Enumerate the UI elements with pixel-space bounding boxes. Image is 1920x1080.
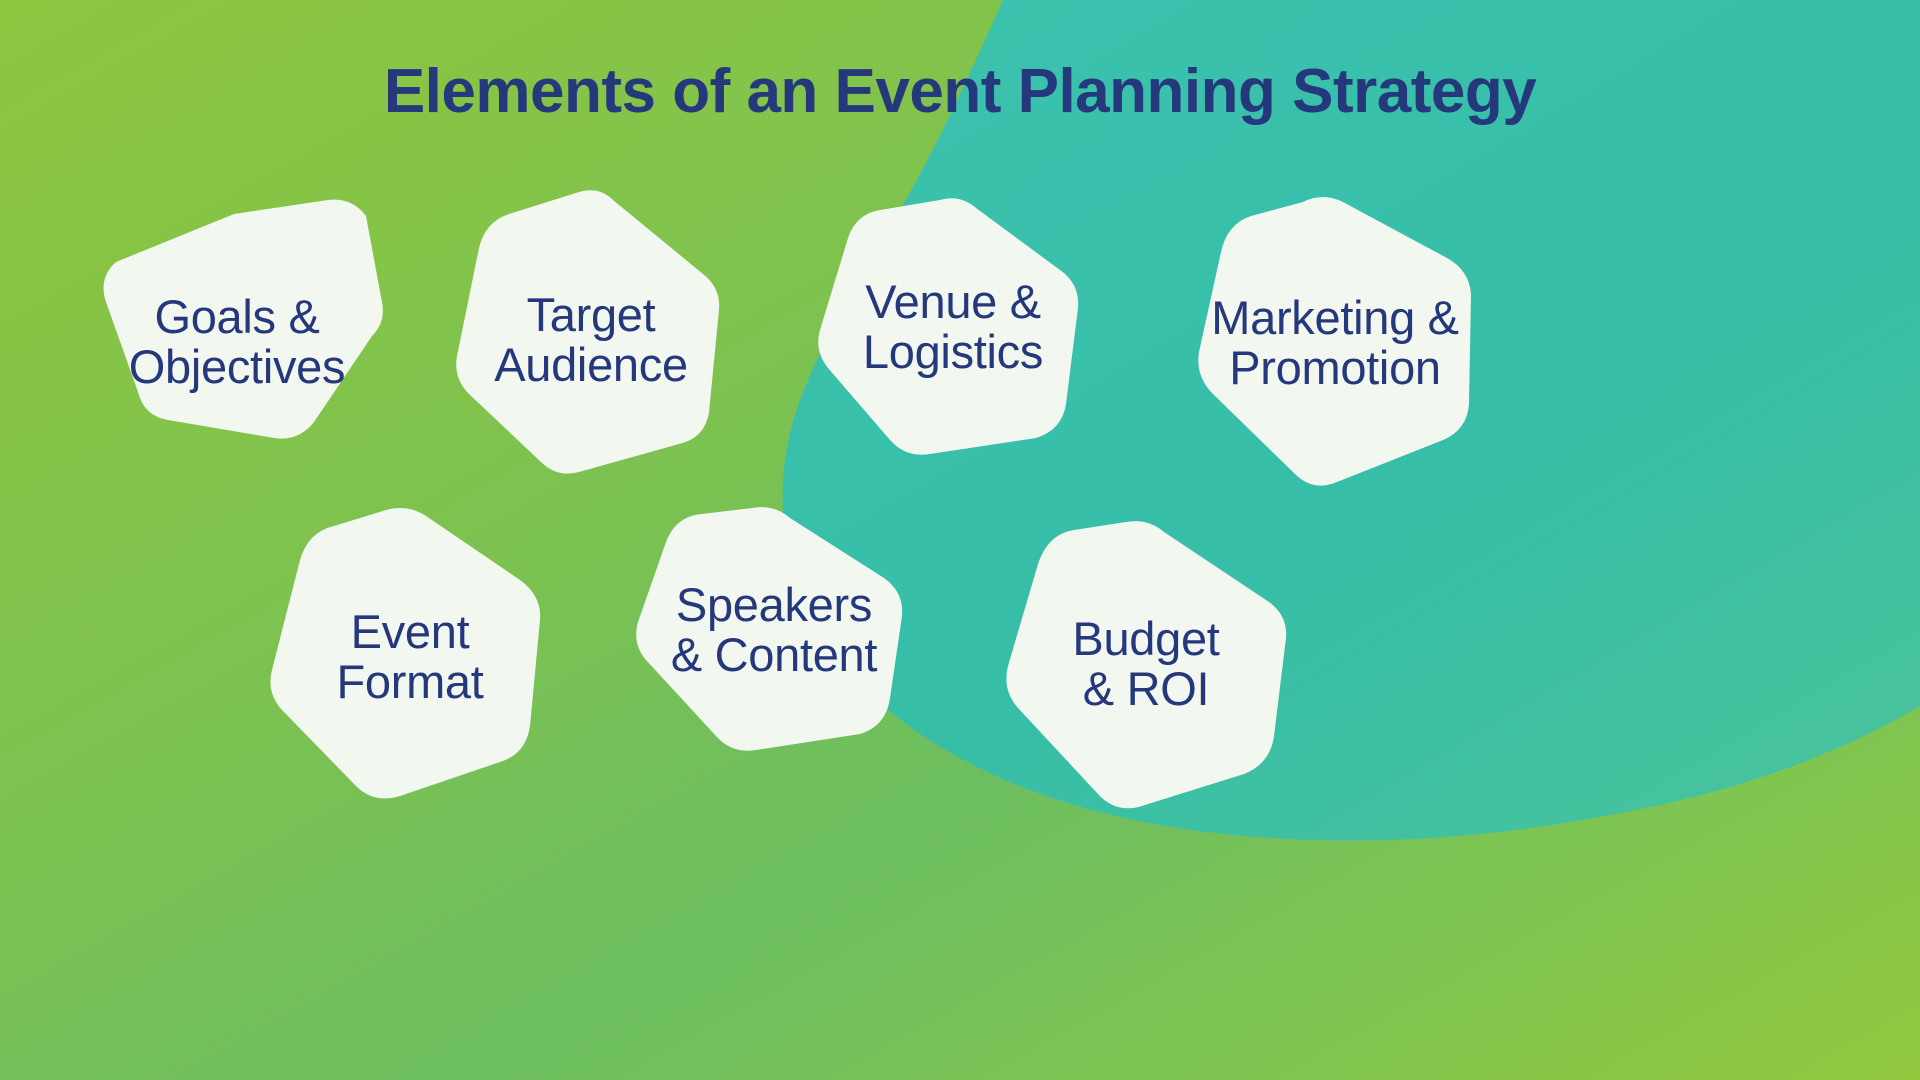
element-budget-roi[interactable]: Budget & ROI bbox=[996, 518, 1296, 810]
blob-shape-budget-roi bbox=[996, 518, 1296, 810]
blob-shape-marketing-promotion bbox=[1185, 192, 1485, 494]
element-goals-objectives[interactable]: Goals & Objectives bbox=[84, 192, 390, 492]
blob-shape-event-format bbox=[262, 504, 558, 810]
page-title: Elements of an Event Planning Strategy bbox=[0, 58, 1920, 126]
blob-shape-goals-objectives bbox=[84, 192, 390, 492]
element-target-audience[interactable]: Target Audience bbox=[445, 186, 737, 494]
element-marketing-promotion[interactable]: Marketing & Promotion bbox=[1185, 192, 1485, 494]
blob-shape-speakers-content bbox=[630, 504, 918, 756]
blob-shape-target-audience bbox=[445, 186, 737, 494]
element-event-format[interactable]: Event Format bbox=[262, 504, 558, 810]
element-speakers-content[interactable]: Speakers & Content bbox=[630, 504, 918, 756]
infographic-canvas: Elements of an Event Planning Strategy G… bbox=[0, 0, 1920, 1080]
blob-shape-venue-logistics bbox=[810, 192, 1096, 462]
element-venue-logistics[interactable]: Venue & Logistics bbox=[810, 192, 1096, 462]
